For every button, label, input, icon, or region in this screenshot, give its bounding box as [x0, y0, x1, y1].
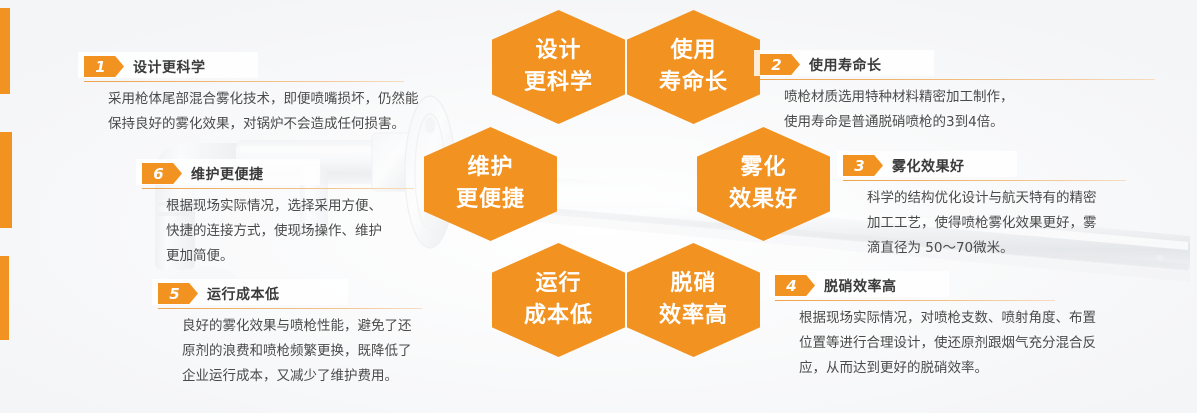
feature-design-body: 采用枪体尾部混合雾化技术，即便喷嘴损坏，仍然能 保持良好的雾化效果，对锅炉不会造… — [84, 87, 434, 137]
feature-atomizing-header: 3 雾化效果好 — [843, 155, 1193, 176]
edge-accent-mid-left — [0, 132, 12, 228]
hexagon-cost-line2: 成本低 — [524, 300, 593, 332]
feature-lifespan-title: 使用寿命长 — [809, 55, 882, 75]
hexagon-denitrify-line1: 脱硝 — [670, 268, 716, 300]
feature-maintain-title: 维护更便捷 — [191, 164, 264, 184]
hexagon-atomizing-line2: 效果好 — [729, 184, 798, 216]
feature-lifespan-header: 2 使用寿命长 — [760, 54, 1160, 75]
hexagon-denitrify[interactable]: 脱硝 效率高 — [627, 243, 760, 357]
feature-denitrify-body: 根据现场实际情况，对喷枪支数、喷射角度、布置 位置等进行合理设计，使还原剂跟烟气… — [775, 306, 1195, 381]
feature-cost-divider — [158, 308, 422, 309]
feature-atomizing-divider — [843, 180, 1126, 181]
feature-cost-body: 良好的雾化效果与喷枪性能，避免了还 原剂的浪费和喷枪频繁更换，既降低了 企业运行… — [158, 314, 518, 389]
edge-accent-bottom-left — [0, 256, 9, 340]
hexagon-design[interactable]: 设计 更科学 — [492, 10, 625, 124]
feature-maintain-divider — [142, 188, 414, 189]
feature-maintain-header: 6 维护更便捷 — [142, 163, 482, 184]
hexagon-lifespan[interactable]: 使用 寿命长 — [627, 10, 760, 124]
hexagon-denitrify-line2: 效率高 — [659, 300, 728, 332]
edge-accent-top-left — [0, 8, 10, 94]
hexagon-lifespan-line2: 寿命长 — [659, 67, 728, 99]
feature-lifespan-body: 喷枪材质选用特种材料精密加工制作， 使用寿命是普通脱硝喷枪的3到4倍。 — [760, 85, 1160, 135]
hexagon-design-line2: 更科学 — [524, 67, 593, 99]
feature-lifespan: 2 使用寿命长 喷枪材质选用特种材料精密加工制作， 使用寿命是普通脱硝喷枪的3到… — [760, 54, 1160, 135]
feature-design-title: 设计更科学 — [133, 57, 206, 77]
feature-denitrify-divider — [775, 300, 1055, 301]
feature-maintain: 6 维护更便捷 根据现场实际情况，选择采用方便、 快捷的连接方式，使现场操作、维… — [142, 163, 482, 269]
feature-cost: 5 运行成本低 良好的雾化效果与喷枪性能，避免了还 原剂的浪费和喷枪频繁更换，既… — [158, 283, 518, 389]
feature-denitrify: 4 脱硝效率高 根据现场实际情况，对喷枪支数、喷射角度、布置 位置等进行合理设计… — [775, 275, 1195, 381]
hexagon-atomizing-line1: 雾化 — [740, 152, 786, 184]
feature-maintain-body: 根据现场实际情况，选择采用方便、 快捷的连接方式，使现场操作、维护 更加简便。 — [142, 194, 482, 269]
feature-denitrify-header: 4 脱硝效率高 — [775, 275, 1195, 296]
hexagon-atomizing[interactable]: 雾化 效果好 — [697, 127, 830, 241]
feature-design-divider — [84, 81, 404, 82]
feature-atomizing: 3 雾化效果好 科学的结构优化设计与航天特有的精密 加工工艺，使得喷枪雾化效果更… — [843, 155, 1193, 261]
feature-design: 1 设计更科学 采用枪体尾部混合雾化技术，即便喷嘴损坏，仍然能 保持良好的雾化效… — [84, 56, 434, 137]
feature-atomizing-title: 雾化效果好 — [892, 156, 965, 176]
feature-lifespan-divider — [760, 79, 1155, 80]
infographic-canvas: 设计 更科学 使用 寿命长 维护 更便捷 雾化 效果好 运行 成本低 脱硝 效率… — [0, 0, 1197, 413]
feature-cost-title: 运行成本低 — [207, 284, 280, 304]
hexagon-lifespan-line1: 使用 — [670, 35, 716, 67]
feature-atomizing-body: 科学的结构优化设计与航天特有的精密 加工工艺，使得喷枪雾化效果更好，雾 滴直径为… — [843, 186, 1193, 261]
feature-design-header: 1 设计更科学 — [84, 56, 434, 77]
feature-cost-header: 5 运行成本低 — [158, 283, 518, 304]
feature-denitrify-title: 脱硝效率高 — [824, 276, 897, 296]
hexagon-cost-line1: 运行 — [535, 268, 581, 300]
hexagon-design-line1: 设计 — [535, 35, 581, 67]
